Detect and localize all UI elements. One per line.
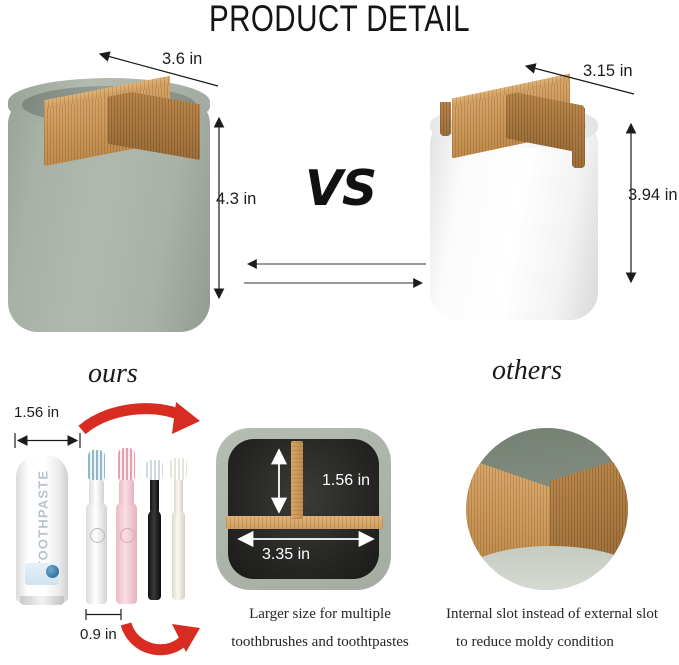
tray-caption-line1: Larger size for multiple [210,600,430,628]
tray-slot-width-label: 3.35 in [262,546,310,564]
page-title: PRODUCT DETAIL [68,0,611,40]
ours-width-label: 3.6 in [162,50,202,69]
electric-toothbrush-pink [116,502,137,604]
tray-divider-horizontal [226,516,383,529]
tray-divider-vertical [291,441,303,519]
product-detail-infographic: PRODUCT DETAIL 3.6 in 4.3 in VS [0,0,679,665]
toothpaste-seal-icon [46,565,59,578]
internal-slot-closeup-image [466,428,628,590]
manual-toothbrush-ivory-neck [174,476,183,514]
manual-toothbrush-ivory [172,510,185,600]
electric-toothbrush-pink-bristles [118,448,135,480]
others-label: others [492,355,562,387]
white-bamboo-external-hook-right [572,108,585,168]
electric-toothbrush-white-button [90,528,105,543]
comparison-connector-arrows [244,258,428,292]
electric-toothbrush-pink-neck [119,478,134,506]
others-height-label: 3.94 in [628,186,678,205]
tray-slot-height-label: 1.56 in [322,472,370,490]
toothpaste-cap [20,596,64,605]
ours-label: ours [88,358,138,390]
brush-width-bracket [84,608,124,622]
electric-toothbrush-white [86,502,107,604]
electric-toothbrush-white-bristles [88,450,105,480]
red-arrow-bottom-icon [120,618,206,660]
toothpaste-tube: TOOTHPASTE [16,455,68,603]
slot-caption-line1: Internal slot instead of external slot [425,600,679,628]
electric-toothbrush-pink-button [120,528,135,543]
red-arrow-top-icon [78,402,202,442]
others-width-label: 3.15 in [583,62,633,81]
manual-toothbrush-black-bristles [146,460,163,480]
vs-label: VS [305,160,376,217]
toothpaste-width-bracket [12,432,84,450]
manual-toothbrush-black-neck [150,476,159,514]
toothpaste-label: TOOTHPASTE [36,463,51,577]
manual-toothbrush-ivory-bristles [170,458,187,480]
capacity-panel: 1.56 in TOOTHPASTE [0,400,206,665]
toothpaste-width-label: 1.56 in [14,404,59,421]
tray-caption-line2: toothbrushes and toothtpastes [200,628,440,656]
white-bamboo-external-hook-left [440,102,451,136]
tray-slot-width-arrow [233,532,379,546]
ours-height-label: 4.3 in [216,190,256,209]
brush-width-label: 0.9 in [80,626,117,643]
manual-toothbrush-black [148,510,161,600]
electric-toothbrush-white-neck [89,478,104,506]
slot-caption-line2: to reduce moldy condition [425,628,645,656]
tray-slot-height-arrow [272,444,286,518]
